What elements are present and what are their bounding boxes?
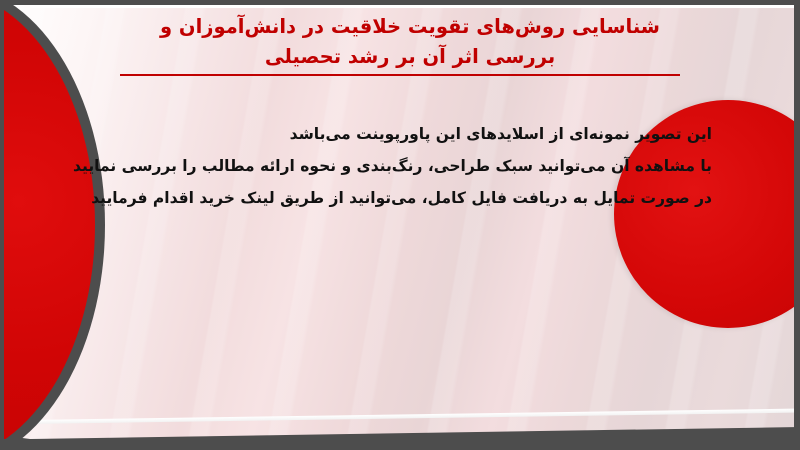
frame-right-edge [794, 0, 800, 450]
body-line-2: با مشاهده آن می‌توانید سبک طراحی، رنگ‌بن… [92, 150, 712, 182]
slide-body-text: این تصویر نمونه‌ای از اسلایدهای این پاور… [92, 118, 712, 214]
title-line-2: بررسی اثر آن بر رشد تحصیلی [110, 42, 710, 72]
body-line-1: این تصویر نمونه‌ای از اسلایدهای این پاور… [92, 118, 712, 150]
frame-left-edge [0, 0, 4, 450]
frame-top-edge [0, 0, 800, 5]
title-line-1: شناسایی روش‌های تقویت خلاقیت در دانش‌آمو… [110, 12, 710, 42]
frame-bottom-edge [0, 439, 800, 450]
panel-top-highlight [30, 5, 800, 8]
presentation-slide: شناسایی روش‌های تقویت خلاقیت در دانش‌آمو… [0, 0, 800, 450]
body-line-3: در صورت تمایل به دریافت فایل کامل، می‌تو… [92, 182, 712, 214]
slide-title: شناسایی روش‌های تقویت خلاقیت در دانش‌آمو… [110, 12, 710, 72]
title-underline-rule [120, 74, 680, 76]
